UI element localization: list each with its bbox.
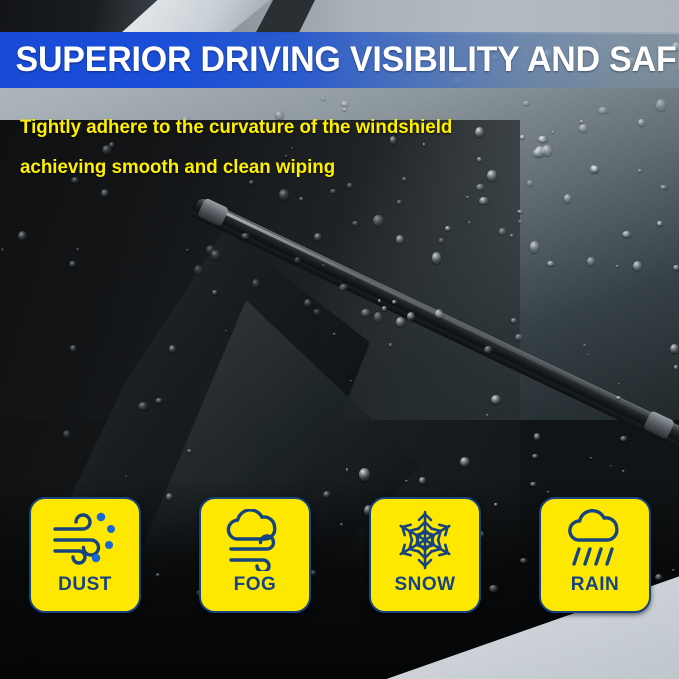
product-feature-image: SUPERIOR DRIVING VISIBILITY AND SAFETY T… — [0, 0, 679, 679]
subtitle-line-1: Tightly adhere to the curvature of the w… — [20, 107, 558, 147]
snowflake-icon — [389, 507, 461, 573]
subtitle-block: Tightly adhere to the curvature of the w… — [20, 107, 580, 187]
badge-snow[interactable]: SNOW — [369, 497, 481, 613]
weather-condition-badges: DUST FOG — [29, 497, 651, 613]
cloud-rain-icon — [559, 507, 631, 573]
badge-label-snow: SNOW — [394, 574, 455, 596]
headline-banner: SUPERIOR DRIVING VISIBILITY AND SAFETY — [0, 32, 679, 88]
badge-rain[interactable]: RAIN — [539, 497, 651, 613]
badge-label-rain: RAIN — [571, 574, 619, 596]
badge-label-dust: DUST — [58, 574, 112, 596]
page-title: SUPERIOR DRIVING VISIBILITY AND SAFETY — [0, 40, 679, 80]
badge-fog[interactable]: FOG — [199, 497, 311, 613]
cloud-fog-icon — [219, 507, 291, 573]
badge-label-fog: FOG — [234, 574, 277, 596]
wind-dust-icon — [49, 507, 121, 573]
subtitle-line-2: achieving smooth and clean wiping — [20, 147, 558, 187]
badge-dust[interactable]: DUST — [29, 497, 141, 613]
roof-edge-strip — [0, 0, 679, 34]
